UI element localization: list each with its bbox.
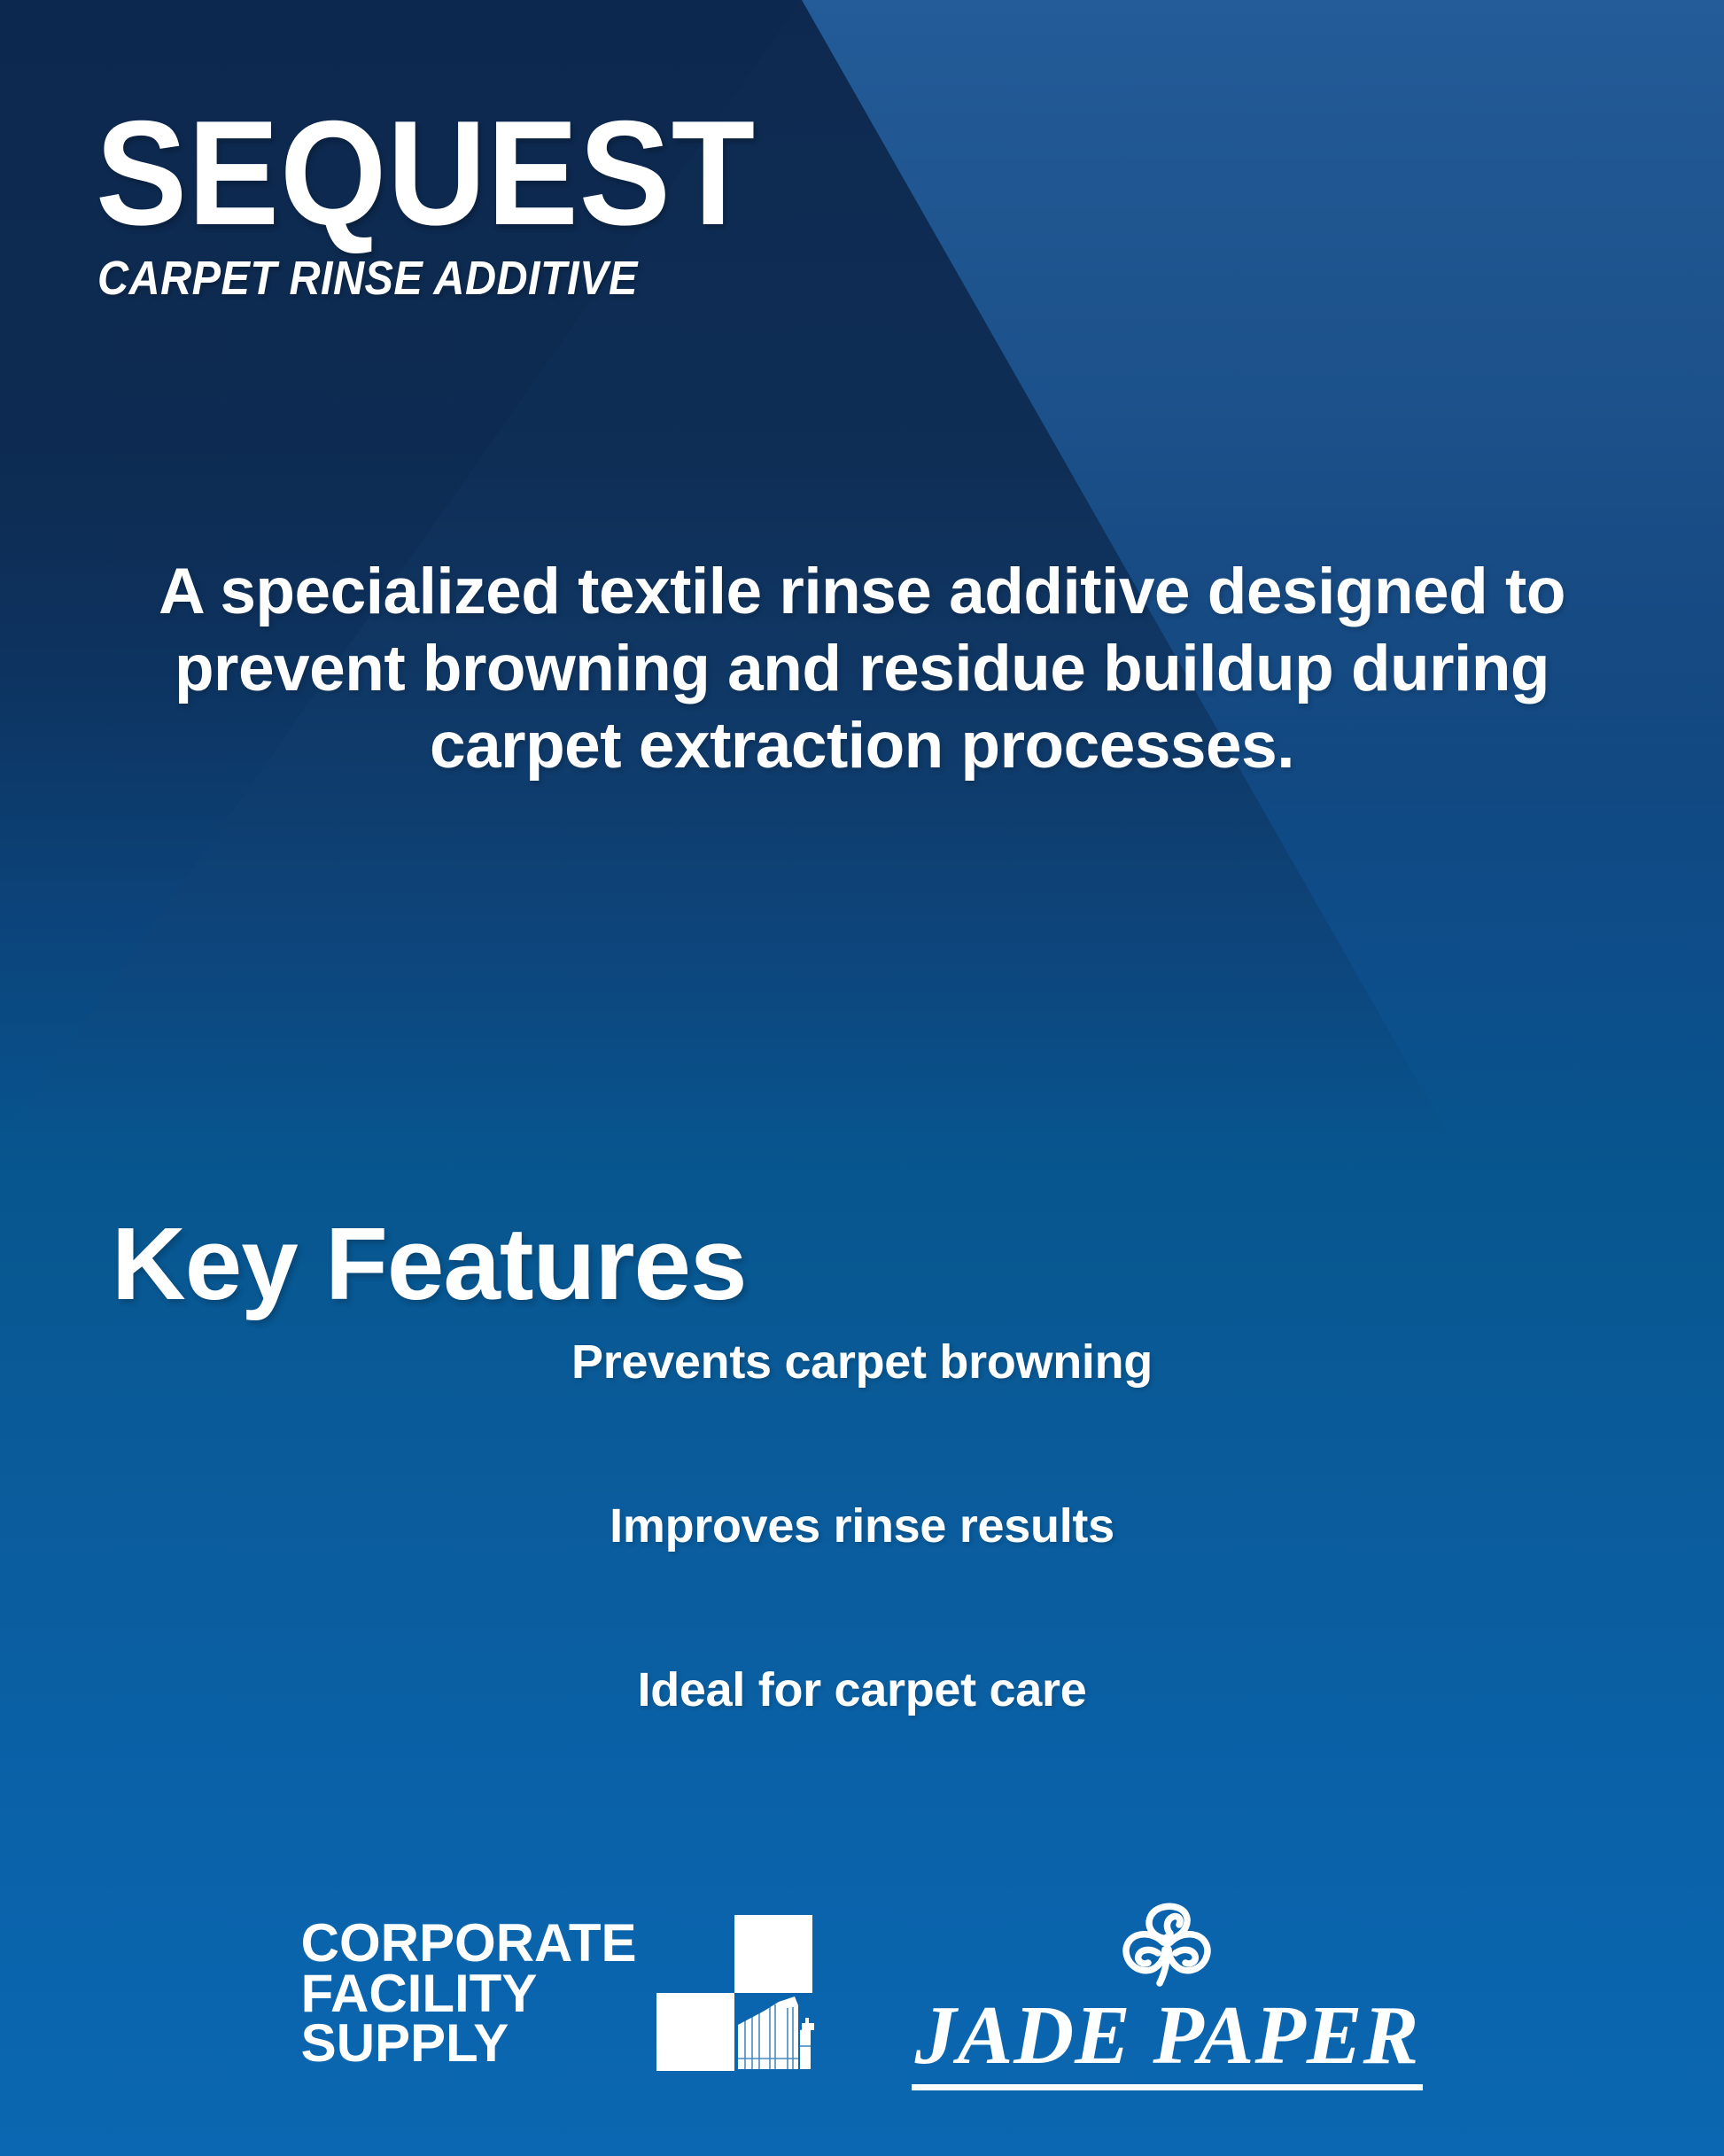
- jade-paper-wordmark: JADE PAPER: [912, 1994, 1424, 2090]
- jade-paper-logo: JADE PAPER: [912, 1898, 1424, 2090]
- building-icon: [726, 1984, 818, 2073]
- product-name: SEQUEST: [96, 105, 756, 242]
- shamrock-clover-icon: [1108, 1898, 1225, 1990]
- cfs-wordmark: CORPORATE FACILITY SUPPLY: [301, 1919, 637, 2068]
- product-subtitle: CARPET RINSE ADDITIVE: [97, 251, 742, 306]
- cfs-line-2: FACILITY: [301, 1969, 637, 2019]
- feature-item: Prevents carpet browning: [0, 1338, 1724, 1386]
- feature-item: Improves rinse results: [0, 1502, 1724, 1550]
- key-features-heading: Key Features: [112, 1212, 747, 1315]
- product-description: A specialized textile rinse additive des…: [97, 554, 1627, 785]
- corporate-facility-supply-logo: CORPORATE FACILITY SUPPLY: [301, 1915, 812, 2073]
- key-features-list: Prevents carpet browning Improves rinse …: [0, 1338, 1724, 1714]
- square-top-right-icon: [734, 1915, 812, 1993]
- footer-logos: CORPORATE FACILITY SUPPLY: [0, 1864, 1724, 2156]
- feature-item: Ideal for carpet care: [0, 1666, 1724, 1714]
- cfs-line-1: CORPORATE: [301, 1919, 637, 1968]
- flyer-content: SEQUEST CARPET RINSE ADDITIVE A speciali…: [0, 0, 1724, 2156]
- product-flyer: SEQUEST CARPET RINSE ADDITIVE A speciali…: [0, 0, 1724, 2156]
- square-bottom-left-icon: [656, 1993, 734, 2071]
- squares-and-building-icon: [656, 1915, 812, 2073]
- brand-block: SEQUEST CARPET RINSE ADDITIVE: [96, 105, 813, 306]
- cfs-line-3: SUPPLY: [301, 2019, 637, 2068]
